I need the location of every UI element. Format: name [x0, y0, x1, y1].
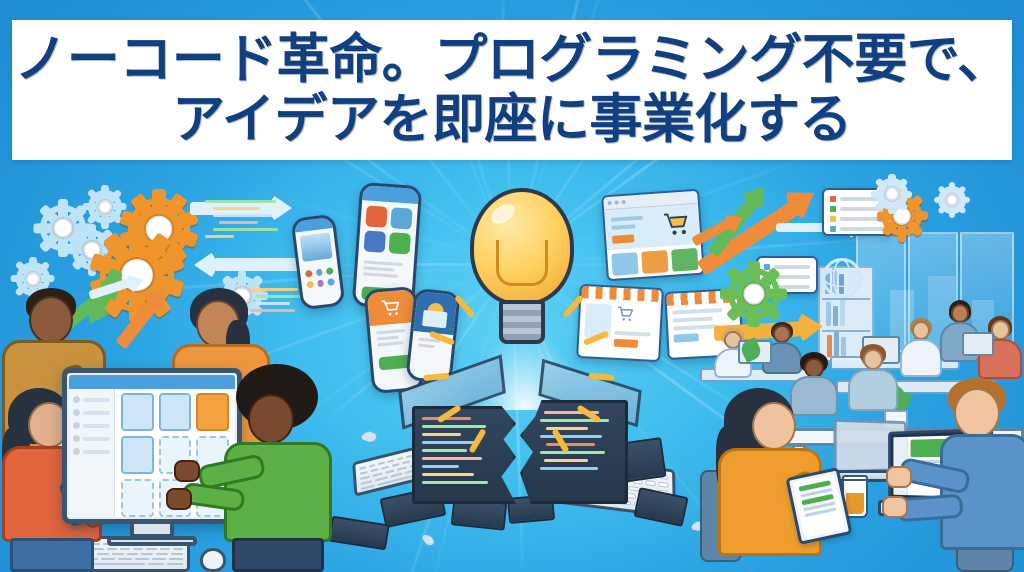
sidebar-item-icon: [73, 448, 80, 455]
lightbulb-base: [499, 300, 545, 344]
code-snippet: [205, 200, 303, 242]
box-half-right: [520, 400, 628, 504]
debris-chip: [358, 428, 379, 447]
title-banner: ノーコード革命。プログラミング不要で、 アイデアを即座に事業化する: [12, 20, 1012, 160]
code-shard: [328, 516, 389, 551]
idea-lightbulb: [452, 188, 592, 358]
sidebar-item-label: [83, 411, 110, 415]
cracked-code-box: [404, 372, 634, 504]
sidebar-item-icon: [73, 396, 80, 403]
arrow-icon: [190, 252, 300, 278]
person-woman-orange-sweater-tablet: [714, 388, 834, 572]
sidebar-item-icon: [73, 435, 80, 442]
sidebar-item[interactable]: [69, 393, 114, 406]
shopping-cart-icon: [379, 297, 403, 319]
canvas-tile[interactable]: [121, 393, 154, 431]
person-man-green-sweater-pointing: [218, 368, 336, 572]
product-card: [611, 252, 638, 276]
sidebar-item-label: [83, 424, 110, 428]
shopping-cart-icon: [660, 209, 692, 239]
sidebar-item[interactable]: [69, 419, 114, 432]
canvas-tile[interactable]: [121, 479, 154, 517]
code-shard: [633, 487, 688, 527]
green-gear-icon: [728, 268, 780, 320]
sidebar-item[interactable]: [69, 445, 114, 458]
canvas-tile[interactable]: [159, 393, 192, 431]
builder-sidebar[interactable]: [69, 375, 115, 517]
product-card: [641, 250, 668, 274]
shopping-cart-icon: [615, 305, 636, 324]
gear-icon: [88, 190, 122, 224]
sidebar-item-label: [83, 450, 110, 454]
person-man-blue-shirt-laptop: [930, 378, 1024, 572]
monitor-stand: [62, 520, 242, 550]
lightbulb-filament: [496, 240, 548, 286]
desk-monitor: [962, 332, 994, 356]
box-half-left: [412, 406, 516, 504]
sidebar-item-label: [83, 398, 110, 402]
sidebar-item-icon: [73, 422, 80, 429]
canvas-tile[interactable]: [121, 436, 154, 474]
lightbulb-shine: [488, 200, 519, 227]
sidebar-item[interactable]: [69, 432, 114, 445]
cup-lid: [842, 475, 868, 481]
person-background-seated-4: [846, 344, 898, 412]
gear-icon: [876, 178, 908, 210]
sidebar-item-icon: [73, 409, 80, 416]
gear-icon: [938, 186, 966, 214]
page-title-line-2: アイデアを即座に事業化する: [172, 93, 852, 147]
sidebar-item[interactable]: [69, 406, 114, 419]
banner-illustration: ノーコード革命。プログラミング不要で、 アイデアを即座に事業化する: [0, 0, 1024, 572]
person-background-seated-5: [898, 318, 942, 378]
app-topbar: [69, 375, 235, 389]
debris-chip: [418, 531, 437, 548]
cup-contents: [846, 493, 864, 514]
page-title-line-1: ノーコード革命。プログラミング不要で、: [14, 33, 1009, 87]
globe-icon: [822, 258, 862, 298]
sidebar-item-label: [83, 437, 110, 441]
